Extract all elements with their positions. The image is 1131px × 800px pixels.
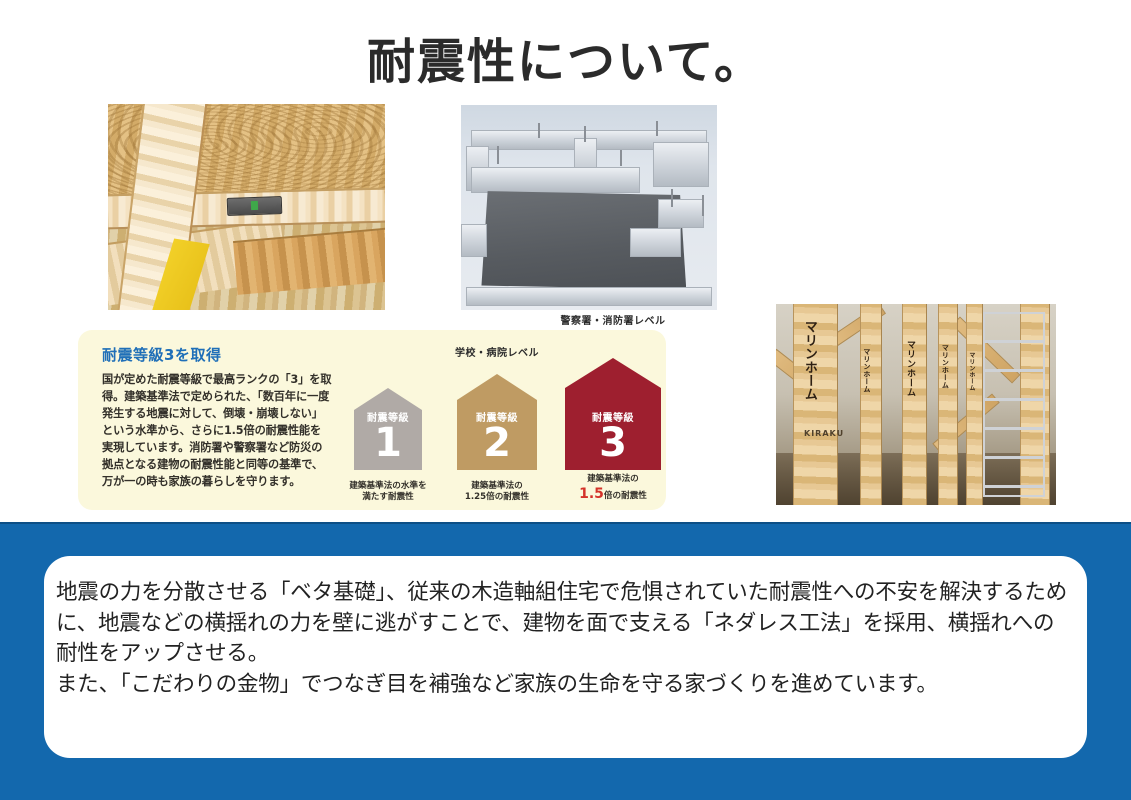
grade-caption: 建築基準法の 1.25倍の耐震性 (432, 481, 562, 504)
grade-number: 2 (483, 424, 511, 462)
foundation-wall (653, 142, 709, 187)
house-shape-icon: 耐震等級 1 (354, 388, 422, 470)
anchor-bolt (584, 126, 586, 142)
grade-caption-post: 倍の耐震性 (604, 491, 647, 501)
post-brand-label: マリンホーム (863, 348, 870, 393)
anchor-bolt (497, 146, 499, 164)
grade-caption-pre: 建築基準法の (587, 474, 639, 484)
anchor-bolt (702, 195, 704, 216)
grade-badge-1: 耐震等級 1 建築基準法の水準を 満たす耐震性 (336, 388, 440, 470)
grade-number: 3 (599, 424, 627, 462)
summary-paragraph-2: また、「こだわりの金物」でつなぎ目を補強など家族の生命を守る家づくりを進めていま… (56, 670, 1071, 701)
foundation-wall (630, 228, 681, 257)
grade-badge-2: 学校・病院レベル 耐震等級 2 建築基準法の 1.25倍の耐震性 (440, 374, 554, 470)
post-brand-sub-label: KIRAKU (804, 429, 844, 438)
anchor-bolt (671, 189, 673, 207)
grade-caption: 建築基準法の 1.5倍の耐震性 (548, 474, 678, 504)
infographic-body: 国が定めた耐震等級で最高ランクの「3」を取得。建築基準法で定められた、「数百年に… (102, 371, 332, 490)
infographic-heading: 耐震等級3を取得 (102, 344, 332, 365)
house-shape-icon: 耐震等級 3 (565, 358, 661, 470)
summary-paragraph-1: 地震の力を分散させる「ベタ基礎」、従来の木造軸組住宅で危惧されていた耐震性への不… (56, 578, 1071, 670)
grade-number: 1 (374, 424, 402, 462)
foundation-wall (658, 199, 704, 228)
foundation-wall (461, 224, 487, 257)
grade-caption-pre: 建築基準法の (471, 481, 523, 491)
timber-post (902, 304, 927, 505)
anchor-bolt (620, 150, 622, 166)
grade-badge-3: 警察署・消防署レベル 耐震等級 3 建築基準法の 1.5倍の耐震性 (550, 358, 676, 470)
summary-card: 地震の力を分散させる「ベタ基礎」、従来の木造軸組住宅で危惧されていた耐震性への不… (44, 556, 1087, 758)
post-brand-label: マリンホーム (968, 352, 974, 391)
photo-framing-posts: マリンホーム KIRAKU マリンホーム マリンホーム マリンホーム マリンホー… (776, 304, 1056, 505)
grade-caption-post: 1.25倍の耐震性 (465, 492, 529, 502)
grade-badges: 耐震等級 1 建築基準法の水準を 満たす耐震性 学校・病院レベル 耐震等級 2 … (336, 340, 656, 504)
post-brand-label: マリンホーム (905, 340, 914, 397)
anchor-bolt (656, 121, 658, 135)
scaffolding (983, 312, 1045, 497)
anchor-bolt (538, 123, 540, 137)
slide-page: 耐震性について。 (0, 0, 1131, 800)
grade-tier-label: 警察署・消防署レベル (561, 312, 666, 327)
grade-caption-highlight: 1.5 (579, 486, 604, 502)
grade-caption-pre: 建築基準法の水準を (349, 481, 426, 491)
metal-connector-plate (227, 196, 283, 215)
foundation-wall (466, 287, 712, 305)
timber-post (860, 304, 882, 505)
post-brand-label: マリンホーム (941, 344, 948, 389)
infographic-text-block: 耐震等級3を取得 国が定めた耐震等級で最高ランクの「3」を取得。建築基準法で定め… (102, 344, 332, 490)
grade-tier-label: 学校・病院レベル (455, 344, 539, 359)
photo-timber-frame-joint (108, 104, 385, 310)
foundation-wall (471, 167, 640, 194)
photo-beta-foundation (461, 105, 717, 310)
post-brand-label: マリンホーム (803, 320, 816, 401)
page-title: 耐震性について。 (0, 22, 1131, 92)
timber-post (938, 304, 958, 505)
grade-caption-post: 満たす耐震性 (362, 492, 414, 502)
seismic-grade-infographic: 耐震等級3を取得 国が定めた耐震等級で最高ランクの「3」を取得。建築基準法で定め… (78, 330, 666, 510)
house-shape-icon: 耐震等級 2 (457, 374, 537, 470)
summary-text-block: 地震の力を分散させる「ベタ基礎」、従来の木造軸組住宅で危惧されていた耐震性への不… (56, 578, 1071, 700)
timber-post (966, 304, 983, 505)
